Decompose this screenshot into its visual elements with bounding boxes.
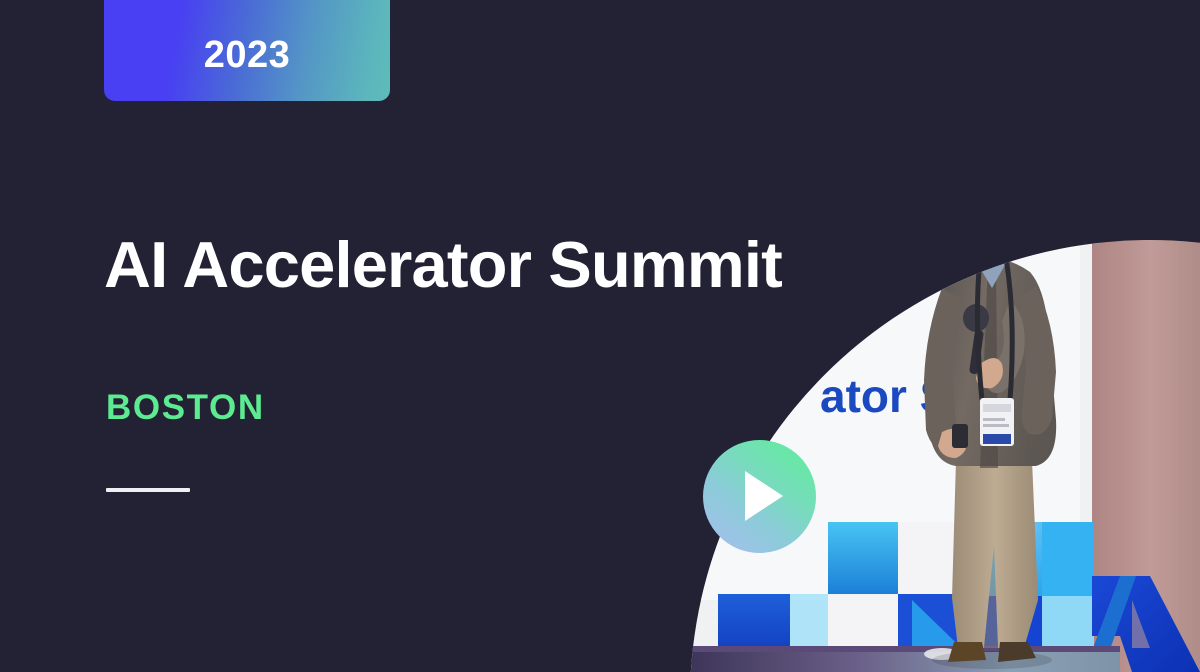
event-photo-illustration: ator Sum bbox=[680, 0, 1200, 672]
play-video-button[interactable] bbox=[703, 440, 816, 553]
year-badge-label: 2023 bbox=[204, 28, 291, 74]
attendee-badge bbox=[980, 398, 1014, 446]
page-title: AI Accelerator Summit bbox=[104, 230, 904, 300]
play-triangle-icon bbox=[745, 471, 783, 521]
summit-hero-card: ator Sum bbox=[0, 0, 1200, 672]
city-label: BOSTON bbox=[106, 390, 265, 425]
year-badge: 2023 bbox=[104, 0, 390, 101]
divider bbox=[106, 488, 190, 492]
event-photo[interactable]: ator Sum bbox=[680, 0, 1200, 672]
